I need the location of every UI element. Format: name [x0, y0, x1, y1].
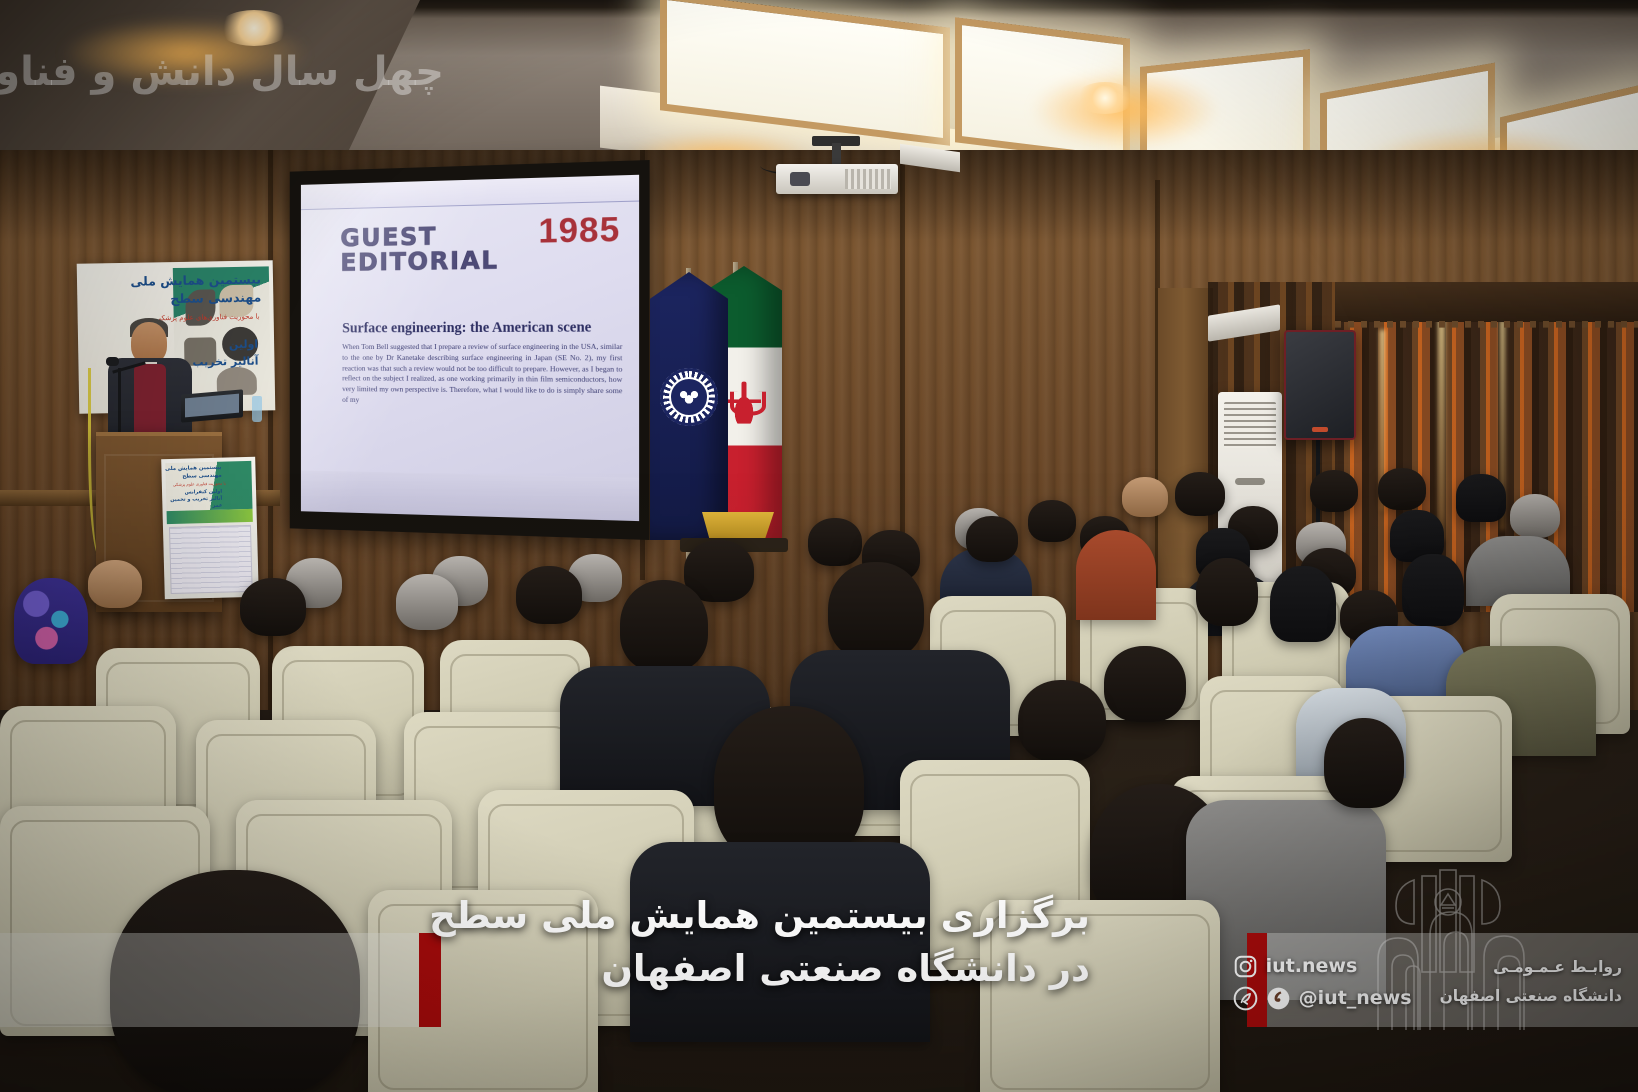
- laptop-screen: [185, 394, 239, 418]
- projector-vents: [845, 169, 891, 189]
- audience-head: [1018, 680, 1106, 762]
- audience-head: [1104, 646, 1186, 722]
- org-name-line1: روابـط عـمـومـی: [1440, 953, 1622, 982]
- iran-emblem: [727, 384, 761, 424]
- instagram-handle: iut.news: [1266, 955, 1358, 977]
- audience-head: [1028, 500, 1076, 542]
- slide-header: GUEST EDITORIAL 1985: [340, 210, 624, 275]
- banner-title-line1: بیستمین همایش ملی: [130, 271, 261, 291]
- slide-title: Surface engineering: the American scene: [342, 319, 622, 337]
- audience-head: [1270, 566, 1336, 642]
- audience-head: [516, 566, 582, 624]
- caption-line-1: برگزاری بیستمین همایش ملی سطح: [450, 890, 1090, 943]
- accent-bar-left: [419, 933, 441, 1027]
- social-handles: iut.news @iut_news: [1233, 954, 1412, 1011]
- slide-body-text: When Tom Bell suggested that I prepare a…: [342, 342, 622, 408]
- ceiling-cove-glow-2: [1030, 70, 1220, 150]
- caption-line-2: در دانشگاه صنعتی اصفهان: [450, 943, 1090, 996]
- audience-head: [88, 560, 142, 608]
- jbl-loudspeaker: [1284, 330, 1356, 440]
- org-name: روابـط عـمـومـی دانشگاه صنعتی اصفهان: [1440, 953, 1622, 1010]
- audience-head: [966, 516, 1018, 562]
- audience-head: [1378, 468, 1426, 510]
- handle-messengers[interactable]: @iut_news: [1233, 986, 1412, 1011]
- microphone-stand: [118, 368, 121, 438]
- messenger-handle: @iut_news: [1299, 987, 1412, 1009]
- water-bottle: [252, 396, 262, 422]
- audience-head: [396, 574, 458, 630]
- branding-block: روابـط عـمـومـی دانشگاه صنعتی اصفهان iut…: [1282, 946, 1622, 1018]
- audience-head: [620, 580, 708, 672]
- caption-panel-left: [0, 933, 441, 1027]
- audience-head: [1456, 474, 1506, 522]
- ceiling-downlight-2: [1075, 82, 1135, 114]
- audience-head: [808, 518, 862, 566]
- slide-top-band: [301, 175, 639, 210]
- ac-grill: [1224, 402, 1276, 448]
- slide-kicker: GUEST EDITORIAL: [340, 223, 498, 274]
- instagram-icon: [1233, 954, 1258, 979]
- lenovo-laptop: [181, 389, 243, 422]
- iut-emblem: [660, 368, 718, 426]
- audience-head: [828, 562, 924, 660]
- audience-head: [1310, 470, 1358, 512]
- slide-year: 1985: [538, 210, 624, 252]
- slide-kicker-line2: EDITORIAL: [340, 248, 498, 275]
- eitaa-icon: [1233, 986, 1258, 1011]
- soroush-icon: [1266, 986, 1291, 1011]
- audience-head: [14, 578, 88, 664]
- banner-title-line2: مهندسی سطح: [131, 289, 262, 309]
- audience-head: [1175, 472, 1225, 516]
- audience-head: [1402, 554, 1464, 626]
- audience-head: [1196, 558, 1258, 626]
- microphone-head: [106, 357, 119, 366]
- banner-title: بیستمین همایش ملی مهندسی سطح: [130, 271, 261, 310]
- projector-lens: [790, 172, 810, 186]
- audience-head: [1324, 718, 1404, 808]
- audience-head: [1122, 477, 1168, 517]
- caption-headline: برگزاری بیستمین همایش ملی سطح در دانشگاه…: [450, 890, 1090, 995]
- iut-emblem-glyph: [674, 382, 704, 412]
- curtain-valance: [1335, 282, 1638, 322]
- audience-head: [240, 578, 306, 636]
- screenshot-root: GUEST EDITORIAL 1985 Surface engineering…: [0, 0, 1638, 1092]
- audience-shoulders: [1076, 530, 1156, 620]
- handle-instagram[interactable]: iut.news: [1233, 954, 1412, 979]
- org-name-line2: دانشگاه صنعتی اصفهان: [1440, 982, 1622, 1011]
- audience-head: [1510, 494, 1560, 538]
- ceiling-downlight-1: [218, 10, 290, 46]
